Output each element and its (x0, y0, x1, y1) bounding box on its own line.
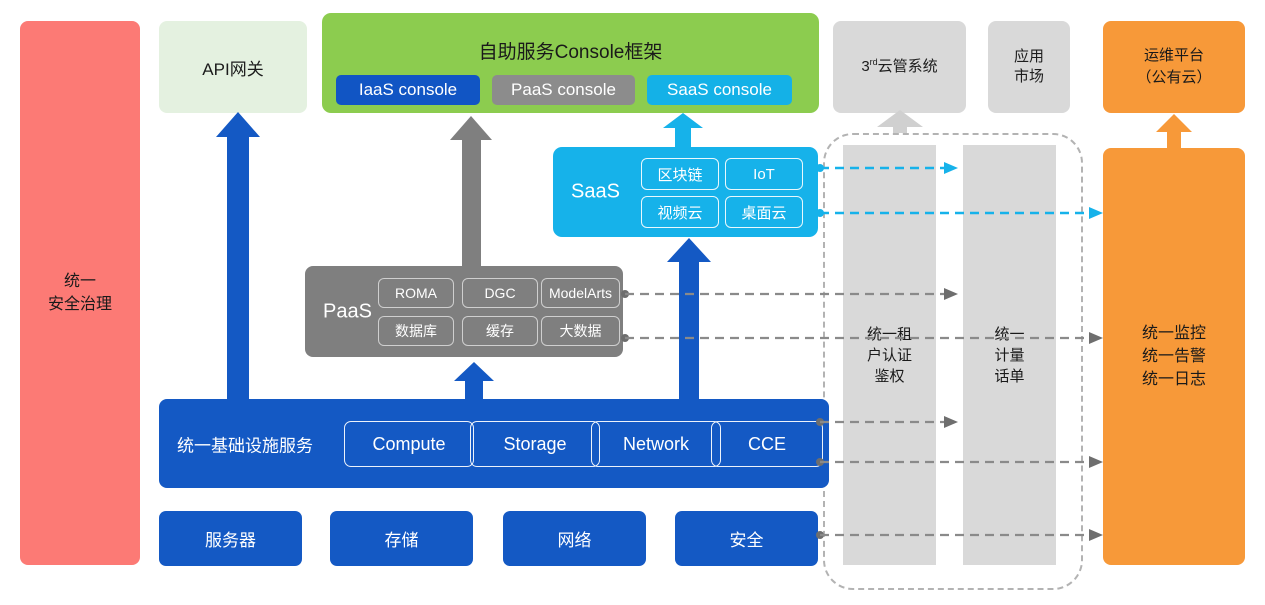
arrow-shared-to-third-party (877, 110, 923, 133)
hardware-storage-label: 存储 (385, 526, 419, 551)
paas-tag-modelarts[interactable]: ModelArts (541, 278, 620, 308)
third-party-prefix: 3 (861, 58, 869, 75)
saas-layer-label: SaaS (571, 181, 620, 204)
infra-tag-compute-label: Compute (372, 434, 445, 455)
ops-platform-line-2: （公有云） (1136, 67, 1211, 89)
metering-line-1: 统一 (994, 324, 1024, 345)
arrow-infra-to-api-gateway (216, 112, 260, 399)
infra-tag-storage-label: Storage (503, 434, 566, 455)
arrow-infra-to-saas (667, 238, 711, 399)
infra-tag-storage[interactable]: Storage (470, 421, 600, 467)
paas-tag-roma[interactable]: ROMA (378, 278, 454, 308)
infra-tag-cce-label: CCE (748, 434, 786, 455)
arrow-paas-to-console (450, 116, 492, 266)
third-party-superscript: rd (870, 57, 878, 67)
saas-tag-video-cloud[interactable]: 视频云 (641, 196, 719, 228)
saas-tag-video-cloud-label: 视频云 (657, 202, 702, 223)
infra-tag-network[interactable]: Network (591, 421, 721, 467)
architecture-diagram: 统一 安全治理 API网关 自助服务Console框架 IaaS console… (0, 0, 1265, 605)
paas-console-pill[interactable]: PaaS console (492, 75, 635, 105)
iaas-console-label: IaaS console (359, 80, 457, 100)
third-party-cloud-mgmt-box[interactable]: 3rd云管系统 (833, 21, 966, 113)
auth-line-1: 统一租 (867, 324, 912, 345)
saas-tag-desktop-cloud-label: 桌面云 (741, 202, 786, 223)
security-line-1: 统一 (48, 270, 112, 293)
hardware-item-server[interactable]: 服务器 (159, 511, 302, 566)
paas-tag-database[interactable]: 数据库 (378, 316, 454, 346)
iaas-console-pill[interactable]: IaaS console (336, 75, 480, 105)
self-service-console-frame: 自助服务Console框架 IaaS console PaaS console … (322, 13, 819, 113)
infra-layer-label: 统一基础设施服务 (177, 431, 313, 456)
infra-tag-compute[interactable]: Compute (344, 421, 474, 467)
monitoring-line-2: 统一告警 (1142, 345, 1206, 368)
hardware-server-label: 服务器 (205, 526, 256, 551)
paas-layer-label: PaaS (323, 300, 372, 323)
paas-tag-dgc-label: DGC (484, 285, 515, 301)
saas-console-pill[interactable]: SaaS console (647, 75, 792, 105)
saas-tag-desktop-cloud[interactable]: 桌面云 (725, 196, 803, 228)
paas-tag-cache[interactable]: 缓存 (462, 316, 538, 346)
saas-tag-blockchain-label: 区块链 (657, 164, 702, 185)
unified-metering-billing-column[interactable]: 统一 计量 话单 (963, 145, 1056, 565)
saas-tag-iot[interactable]: IoT (725, 158, 803, 190)
ops-platform-box[interactable]: 运维平台 （公有云） (1103, 21, 1245, 113)
hardware-item-security[interactable]: 安全 (675, 511, 818, 566)
paas-tag-roma-label: ROMA (395, 285, 437, 301)
monitoring-line-3: 统一日志 (1142, 368, 1206, 391)
paas-layer-block: PaaS ROMA DGC ModelArts 数据库 缓存 大数据 (305, 266, 623, 357)
hardware-item-network[interactable]: 网络 (503, 511, 646, 566)
hardware-item-storage[interactable]: 存储 (330, 511, 473, 566)
arrow-infra-to-paas (454, 362, 494, 399)
api-gateway-box[interactable]: API网关 (159, 21, 307, 113)
saas-layer-block: SaaS 区块链 IoT 视频云 桌面云 (553, 147, 818, 237)
arrow-saas-to-console (663, 113, 703, 147)
infra-tag-network-label: Network (623, 434, 689, 455)
saas-console-label: SaaS console (667, 80, 772, 100)
security-panel-text: 统一 安全治理 (48, 270, 112, 316)
monitoring-panel-text: 统一监控 统一告警 统一日志 (1142, 322, 1206, 392)
metering-line-2: 计量 (994, 345, 1024, 366)
app-market-label: 应用 市场 (1014, 47, 1044, 88)
auth-line-3: 鉴权 (867, 366, 912, 387)
app-market-line-1: 应用 (1014, 47, 1044, 67)
unified-tenant-auth-label: 统一租 户认证 鉴权 (867, 324, 912, 387)
third-party-label: 3rd云管系统 (861, 56, 937, 77)
app-market-line-2: 市场 (1014, 67, 1044, 87)
ops-platform-label: 运维平台 （公有云） (1136, 45, 1211, 89)
paas-tag-bigdata[interactable]: 大数据 (541, 316, 620, 346)
third-party-suffix: 云管系统 (878, 58, 938, 75)
saas-tag-iot-label: IoT (753, 166, 775, 183)
monitoring-line-1: 统一监控 (1142, 322, 1206, 345)
unified-metering-billing-label: 统一 计量 话单 (994, 324, 1024, 387)
security-line-2: 安全治理 (48, 293, 112, 316)
unified-security-governance-panel: 统一 安全治理 (20, 21, 140, 565)
paas-tag-database-label: 数据库 (395, 321, 437, 341)
paas-tag-modelarts-label: ModelArts (549, 285, 612, 301)
app-market-box[interactable]: 应用 市场 (988, 21, 1070, 113)
paas-tag-cache-label: 缓存 (486, 321, 514, 341)
infra-tag-cce[interactable]: CCE (711, 421, 823, 467)
paas-tag-dgc[interactable]: DGC (462, 278, 538, 308)
console-frame-title: 自助服务Console框架 (322, 37, 819, 64)
unified-infrastructure-block: 统一基础设施服务 Compute Storage Network CCE (159, 399, 829, 488)
hardware-network-label: 网络 (558, 526, 592, 551)
unified-monitoring-panel: 统一监控 统一告警 统一日志 (1103, 148, 1245, 565)
ops-platform-line-1: 运维平台 (1136, 45, 1211, 67)
arrow-monitoring-to-ops-platform (1156, 114, 1192, 148)
paas-tag-bigdata-label: 大数据 (560, 321, 602, 341)
auth-line-2: 户认证 (867, 345, 912, 366)
hardware-security-label: 安全 (730, 526, 764, 551)
unified-tenant-auth-column[interactable]: 统一租 户认证 鉴权 (843, 145, 936, 565)
api-gateway-label: API网关 (202, 55, 263, 80)
paas-console-label: PaaS console (511, 80, 616, 100)
saas-tag-blockchain[interactable]: 区块链 (641, 158, 719, 190)
metering-line-3: 话单 (994, 366, 1024, 387)
